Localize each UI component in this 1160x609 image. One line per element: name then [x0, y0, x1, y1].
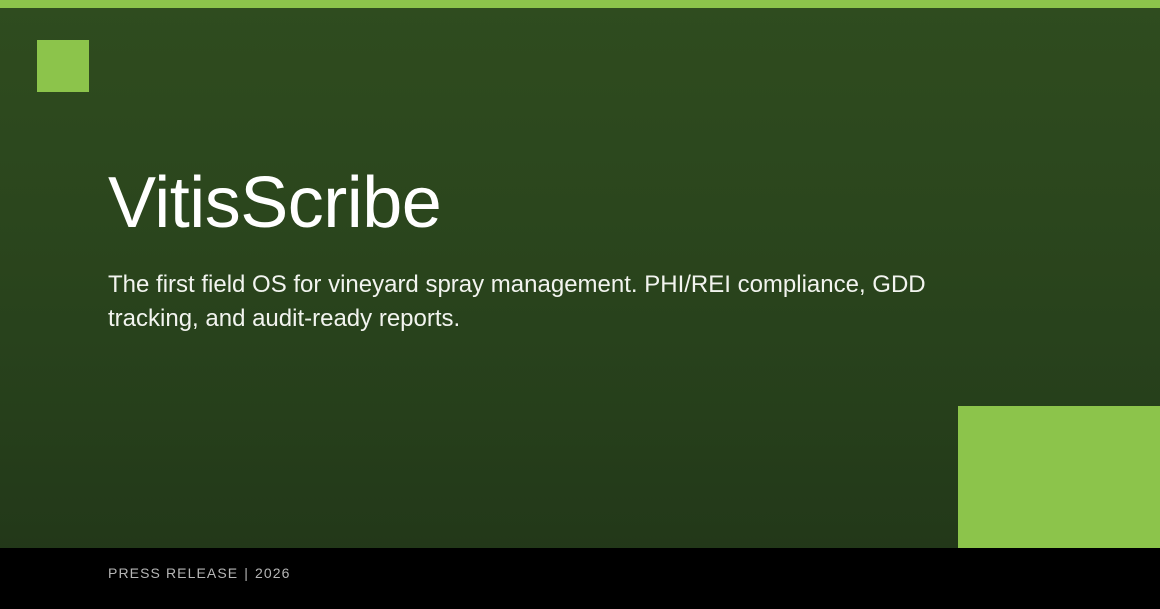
- subtitle-text: The first field OS for vineyard spray ma…: [108, 268, 988, 336]
- footer-year: 2026: [255, 565, 291, 581]
- footer-label: PRESS RELEASE: [108, 565, 238, 581]
- title-block: VitisScribe The first field OS for viney…: [108, 160, 1008, 336]
- title-slide: VitisScribe The first field OS for viney…: [0, 0, 1160, 609]
- page-title: VitisScribe: [108, 160, 1008, 246]
- footer-separator: |: [238, 565, 255, 581]
- lower-right-accent-block: [958, 406, 1160, 548]
- corner-accent-square: [37, 40, 89, 92]
- top-accent-bar: [0, 0, 1160, 8]
- footer-meta: PRESS RELEASE|2026: [108, 565, 291, 581]
